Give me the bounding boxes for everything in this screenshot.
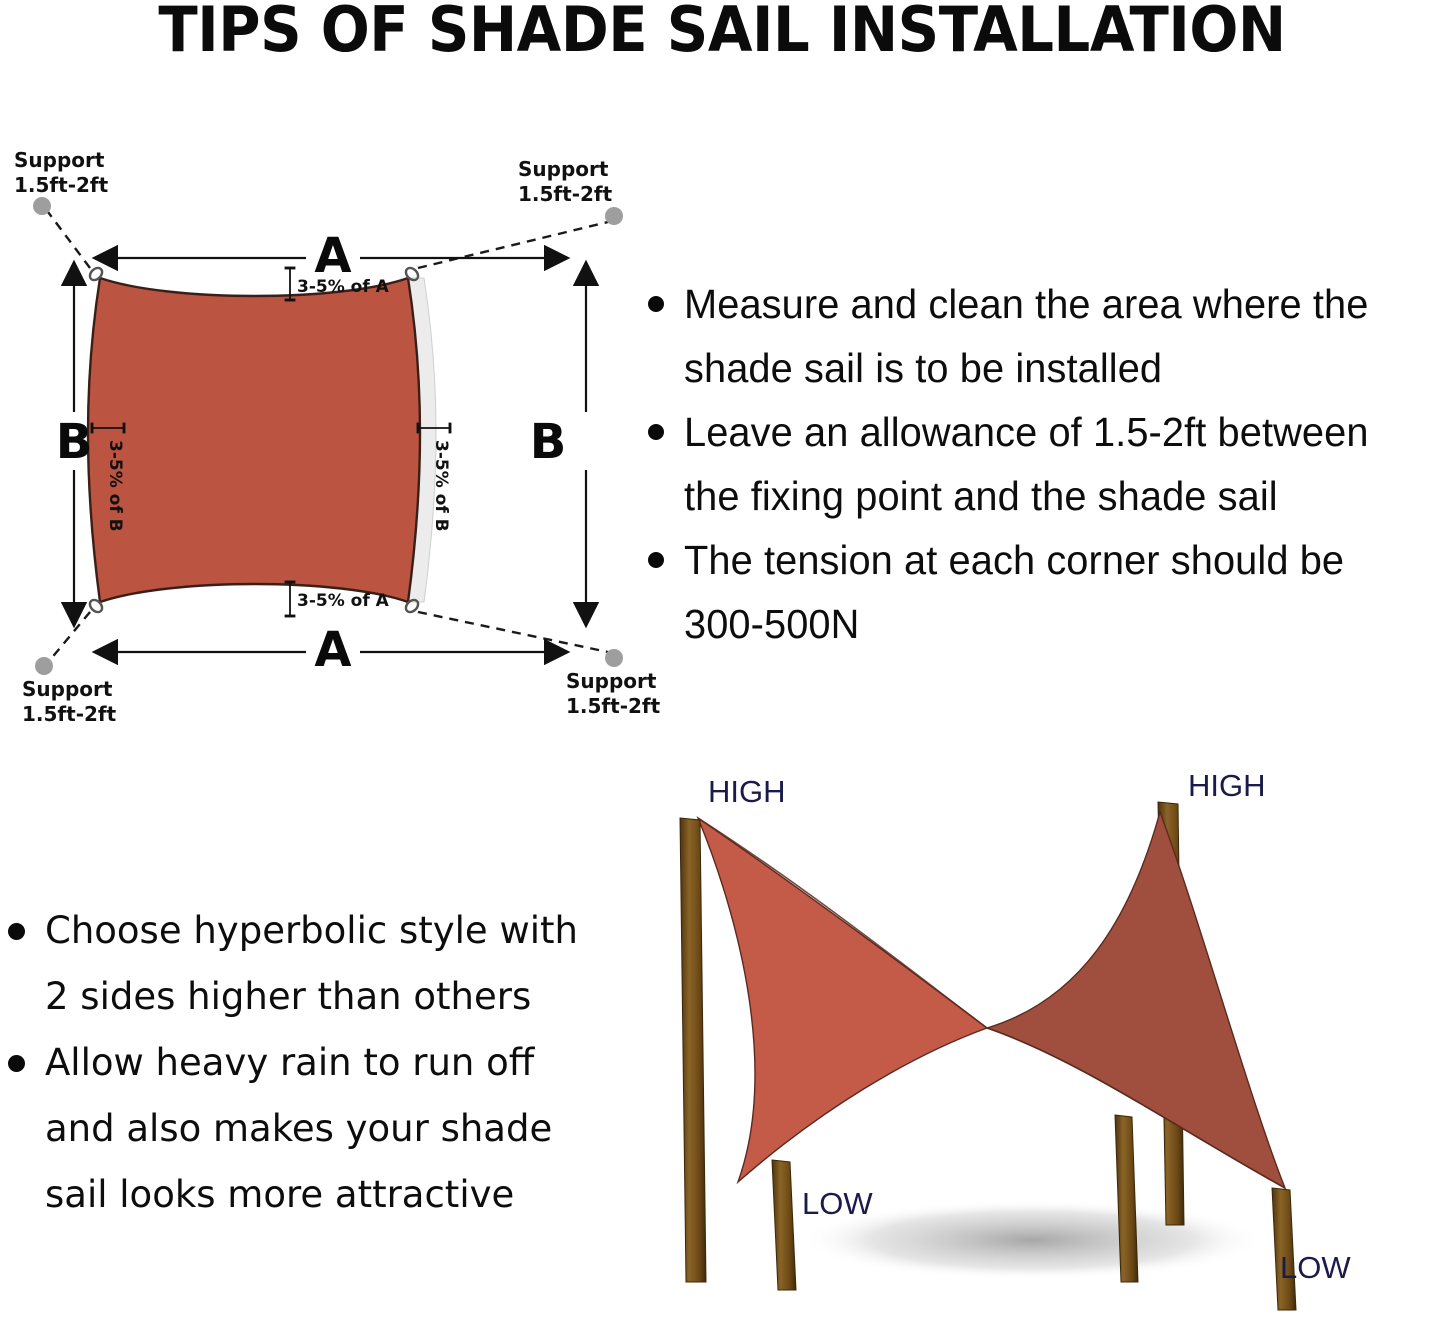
style-note-line: Choose hyperbolic style with [45,898,578,964]
rectangular-sail-diagram: Support 1.5ft-2ft Support 1.5ft-2ft Supp… [0,150,660,730]
sail-lobe-rear [987,812,1285,1188]
support-label-line2: 1.5ft-2ft [14,173,109,197]
bullet-dot-icon [648,424,664,440]
dimension-label-b-left: B [56,414,93,470]
pole-left-low-inner [772,1160,796,1290]
dimension-label-b-right: B [530,414,567,470]
style-note-line: sail looks more attractive [45,1162,552,1228]
support-dot-top-right [605,207,623,225]
support-label-line2: 1.5ft-2ft [22,702,117,726]
dimension-right-b: B [530,286,586,602]
style-note-line: 2 sides higher than others [45,964,578,1030]
shade-sail-shape [88,278,420,602]
pole-left-high [680,818,706,1282]
dimension-left-b: B [56,286,93,602]
style-note-line: and also makes your shade [45,1096,552,1162]
support-label-line2: 1.5ft-2ft [566,694,660,718]
bullet-dot-icon [648,296,664,312]
list-item: Leave an allowance of 1.5-2ft between th… [648,400,1445,528]
support-label-line1: Support [14,150,105,172]
dimension-label-a-top: A [314,228,351,284]
pole-right-low-outer [1272,1188,1296,1310]
sail-lobe-front [698,818,987,1182]
tip-text: Measure and clean the area where the sha… [684,272,1368,400]
dimension-top-a: A [118,228,544,284]
tip-line: 300-500N [684,592,1344,656]
corner-label-right-high: HIGH [1188,770,1266,803]
tip-line: The tension at each corner should be [684,528,1344,592]
curvature-label-bottom: 3-5% of A [297,591,390,611]
support-label-bottom-right: Support 1.5ft-2ft [566,669,660,718]
support-label-line1: Support [566,669,657,693]
tip-line: the fixing point and the shade sail [684,464,1369,528]
curvature-label-left: 3-5% of B [105,440,125,532]
dimension-label-a-bottom: A [314,622,351,678]
support-label-line2: 1.5ft-2ft [518,182,613,206]
installation-tips-list: Measure and clean the area where the sha… [648,272,1445,656]
tip-text: Leave an allowance of 1.5-2ft between th… [684,400,1369,528]
tip-line: Leave an allowance of 1.5-2ft between [684,400,1369,464]
support-label-bottom-left: Support 1.5ft-2ft [22,677,117,726]
list-item: The tension at each corner should be 300… [648,528,1445,656]
list-item: Allow heavy rain to run off and also mak… [8,1030,628,1228]
support-label-top-left: Support 1.5ft-2ft [14,150,109,197]
corner-label-right-low: LOW [1280,1250,1351,1285]
style-note-text: Choose hyperbolic style with 2 sides hig… [45,898,578,1030]
style-note-text: Allow heavy rain to run off and also mak… [45,1030,552,1228]
support-label-line1: Support [22,677,113,701]
tip-line: Measure and clean the area where the [684,272,1368,336]
page-title: TIPS OF SHADE SAIL INSTALLATION [159,0,1286,60]
corner-label-left-high: HIGH [708,774,786,809]
list-item: Choose hyperbolic style with 2 sides hig… [8,898,628,1030]
bullet-dot-icon [8,923,25,940]
support-label-line1: Support [518,157,609,181]
hyperbolic-style-notes-list: Choose hyperbolic style with 2 sides hig… [8,898,628,1228]
style-note-line: Allow heavy rain to run off [45,1030,552,1096]
title-bar: TIPS OF SHADE SAIL INSTALLATION [0,0,1445,62]
curvature-label-right: 3-5% of B [431,440,451,532]
corner-label-left-low: LOW [802,1186,873,1221]
tip-text: The tension at each corner should be 300… [684,528,1344,656]
bullet-dot-icon [648,552,664,568]
bullet-dot-icon [8,1055,25,1072]
hyperbolic-sail-diagram: HIGH HIGH LOW LOW [660,770,1445,1320]
support-label-top-right: Support 1.5ft-2ft [518,157,613,206]
curvature-label-top: 3-5% of A [297,277,390,297]
support-dot-bottom-left [35,657,53,675]
support-dot-top-left [33,197,51,215]
tip-line: shade sail is to be installed [684,336,1368,400]
support-dot-bottom-right [605,649,623,667]
list-item: Measure and clean the area where the sha… [648,272,1445,400]
dimension-bottom-a: A [118,622,544,678]
